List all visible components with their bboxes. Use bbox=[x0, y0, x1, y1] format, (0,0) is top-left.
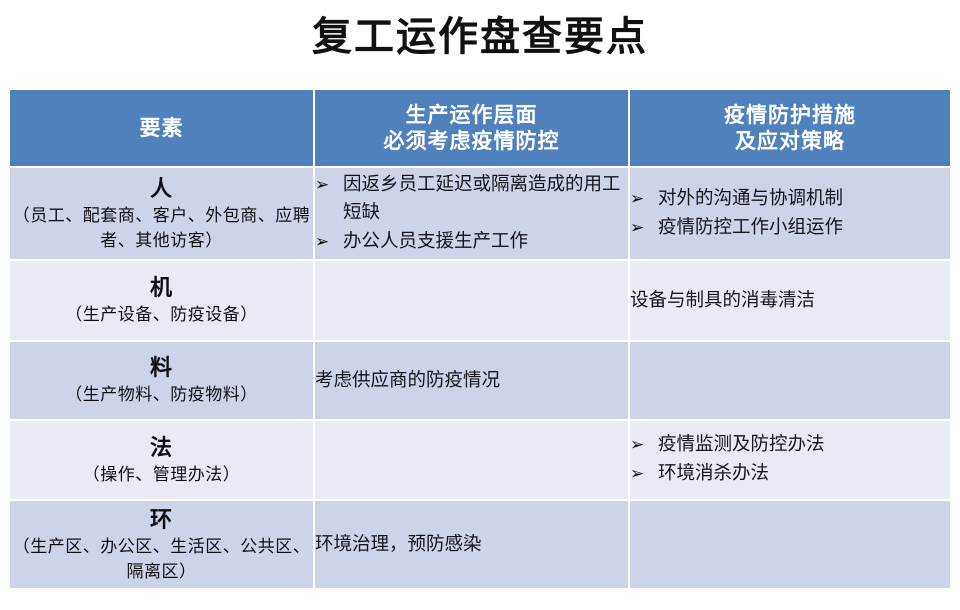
column-header-production: 生产运作层面 必须考虑疫情防控 bbox=[315, 90, 630, 168]
bullet-list: ➢ 因返乡员工延迟或隔离造成的用工短缺 ➢ 办公人员支援生产工作 bbox=[315, 171, 628, 256]
empty-cell-placeholder bbox=[315, 460, 628, 461]
column-header-element-line1: 要素 bbox=[10, 115, 313, 141]
list-item: ➢ 办公人员支援生产工作 bbox=[315, 228, 628, 256]
element-description: （生产物料、防疫物料） bbox=[10, 382, 313, 407]
bullet-arrow-icon: ➢ bbox=[630, 431, 650, 459]
cell-production-liao: 考虑供应商的防疫情况 bbox=[315, 342, 630, 421]
cell-prevention-liao bbox=[630, 342, 950, 421]
table-row: 法 （操作、管理办法） ➢ 疫情监测及防控办法 ➢ 环境消杀办法 bbox=[10, 421, 950, 501]
cell-prevention-fa: ➢ 疫情监测及防控办法 ➢ 环境消杀办法 bbox=[630, 421, 950, 501]
list-item-text: 因返乡员工延迟或隔离造成的用工短缺 bbox=[343, 175, 621, 223]
column-header-element: 要素 bbox=[10, 90, 315, 168]
element-name: 料 bbox=[10, 354, 313, 382]
table-row: 人 （员工、配套商、客户、外包商、应聘者、其他访客） ➢ 因返乡员工延迟或隔离造… bbox=[10, 168, 950, 261]
cell-element-liao: 料 （生产物料、防疫物料） bbox=[10, 342, 315, 421]
bullet-arrow-icon: ➢ bbox=[315, 171, 335, 199]
cell-production-fa bbox=[315, 421, 630, 501]
list-item: ➢ 疫情监测及防控办法 bbox=[630, 431, 950, 459]
cell-text: 环境治理，预防感染 bbox=[315, 535, 482, 555]
table-row: 料 （生产物料、防疫物料） 考虑供应商的防疫情况 bbox=[10, 342, 950, 421]
element-description: （生产区、办公区、生活区、公共区、隔离区） bbox=[10, 534, 313, 584]
list-item: ➢ 环境消杀办法 bbox=[630, 460, 950, 488]
list-item-text: 办公人员支援生产工作 bbox=[343, 232, 528, 252]
element-description: （操作、管理办法） bbox=[10, 462, 313, 487]
cell-text: 考虑供应商的防疫情况 bbox=[315, 371, 500, 391]
table-row: 机 （生产设备、防疫设备） 设备与制具的消毒清洁 bbox=[10, 261, 950, 342]
empty-cell-placeholder bbox=[630, 380, 950, 381]
list-item-text: 疫情防控工作小组运作 bbox=[658, 218, 843, 238]
bullet-list: ➢ 疫情监测及防控办法 ➢ 环境消杀办法 bbox=[630, 431, 950, 488]
cell-prevention-huan bbox=[630, 501, 950, 588]
element-description: （员工、配套商、客户、外包商、应聘者、其他访客） bbox=[10, 203, 313, 253]
list-item-text: 疫情监测及防控办法 bbox=[658, 435, 825, 455]
table-header: 要素 生产运作层面 必须考虑疫情防控 疫情防护措施 及应对策略 bbox=[10, 90, 950, 168]
cell-element-ren: 人 （员工、配套商、客户、外包商、应聘者、其他访客） bbox=[10, 168, 315, 261]
element-description: （生产设备、防疫设备） bbox=[10, 302, 313, 327]
element-name: 法 bbox=[10, 434, 313, 462]
list-item-text: 对外的沟通与协调机制 bbox=[658, 189, 843, 209]
table-header-row: 要素 生产运作层面 必须考虑疫情防控 疫情防护措施 及应对策略 bbox=[10, 90, 950, 168]
table-body: 人 （员工、配套商、客户、外包商、应聘者、其他访客） ➢ 因返乡员工延迟或隔离造… bbox=[10, 168, 950, 588]
list-item: ➢ 疫情防控工作小组运作 bbox=[630, 214, 950, 242]
element-name: 人 bbox=[10, 175, 313, 203]
cell-text: 设备与制具的消毒清洁 bbox=[630, 291, 815, 311]
list-item-text: 环境消杀办法 bbox=[658, 464, 769, 484]
cell-production-huan: 环境治理，预防感染 bbox=[315, 501, 630, 588]
element-name: 机 bbox=[10, 274, 313, 302]
bullet-arrow-icon: ➢ bbox=[630, 185, 650, 213]
bullet-list: ➢ 对外的沟通与协调机制 ➢ 疫情防控工作小组运作 bbox=[630, 185, 950, 242]
cell-element-ji: 机 （生产设备、防疫设备） bbox=[10, 261, 315, 342]
cell-prevention-ji: 设备与制具的消毒清洁 bbox=[630, 261, 950, 342]
bullet-arrow-icon: ➢ bbox=[630, 460, 650, 488]
empty-cell-placeholder bbox=[315, 300, 628, 301]
column-header-production-line1: 生产运作层面 bbox=[315, 102, 628, 128]
column-header-prevention: 疫情防护措施 及应对策略 bbox=[630, 90, 950, 168]
element-name: 环 bbox=[10, 506, 313, 534]
list-item: ➢ 对外的沟通与协调机制 bbox=[630, 185, 950, 213]
list-item: ➢ 因返乡员工延迟或隔离造成的用工短缺 bbox=[315, 171, 628, 227]
slide-canvas: 复工运作盘查要点 要素 生产运作层面 必须考虑疫情防控 疫情防护措施 及应对策略 bbox=[0, 0, 960, 610]
empty-cell-placeholder bbox=[630, 544, 950, 545]
column-header-prevention-line2: 及应对策略 bbox=[630, 128, 950, 154]
cell-element-fa: 法 （操作、管理办法） bbox=[10, 421, 315, 501]
bullet-arrow-icon: ➢ bbox=[630, 214, 650, 242]
cell-element-huan: 环 （生产区、办公区、生活区、公共区、隔离区） bbox=[10, 501, 315, 588]
column-header-prevention-line1: 疫情防护措施 bbox=[630, 102, 950, 128]
cell-production-ren: ➢ 因返乡员工延迟或隔离造成的用工短缺 ➢ 办公人员支援生产工作 bbox=[315, 168, 630, 261]
bullet-arrow-icon: ➢ bbox=[315, 228, 335, 256]
cell-production-ji bbox=[315, 261, 630, 342]
column-header-production-line2: 必须考虑疫情防控 bbox=[315, 128, 628, 154]
page-title: 复工运作盘查要点 bbox=[0, 8, 960, 66]
cell-prevention-ren: ➢ 对外的沟通与协调机制 ➢ 疫情防控工作小组运作 bbox=[630, 168, 950, 261]
inspection-matrix-table: 要素 生产运作层面 必须考虑疫情防控 疫情防护措施 及应对策略 人 （员工、配套… bbox=[10, 90, 950, 588]
table-row: 环 （生产区、办公区、生活区、公共区、隔离区） 环境治理，预防感染 bbox=[10, 501, 950, 588]
